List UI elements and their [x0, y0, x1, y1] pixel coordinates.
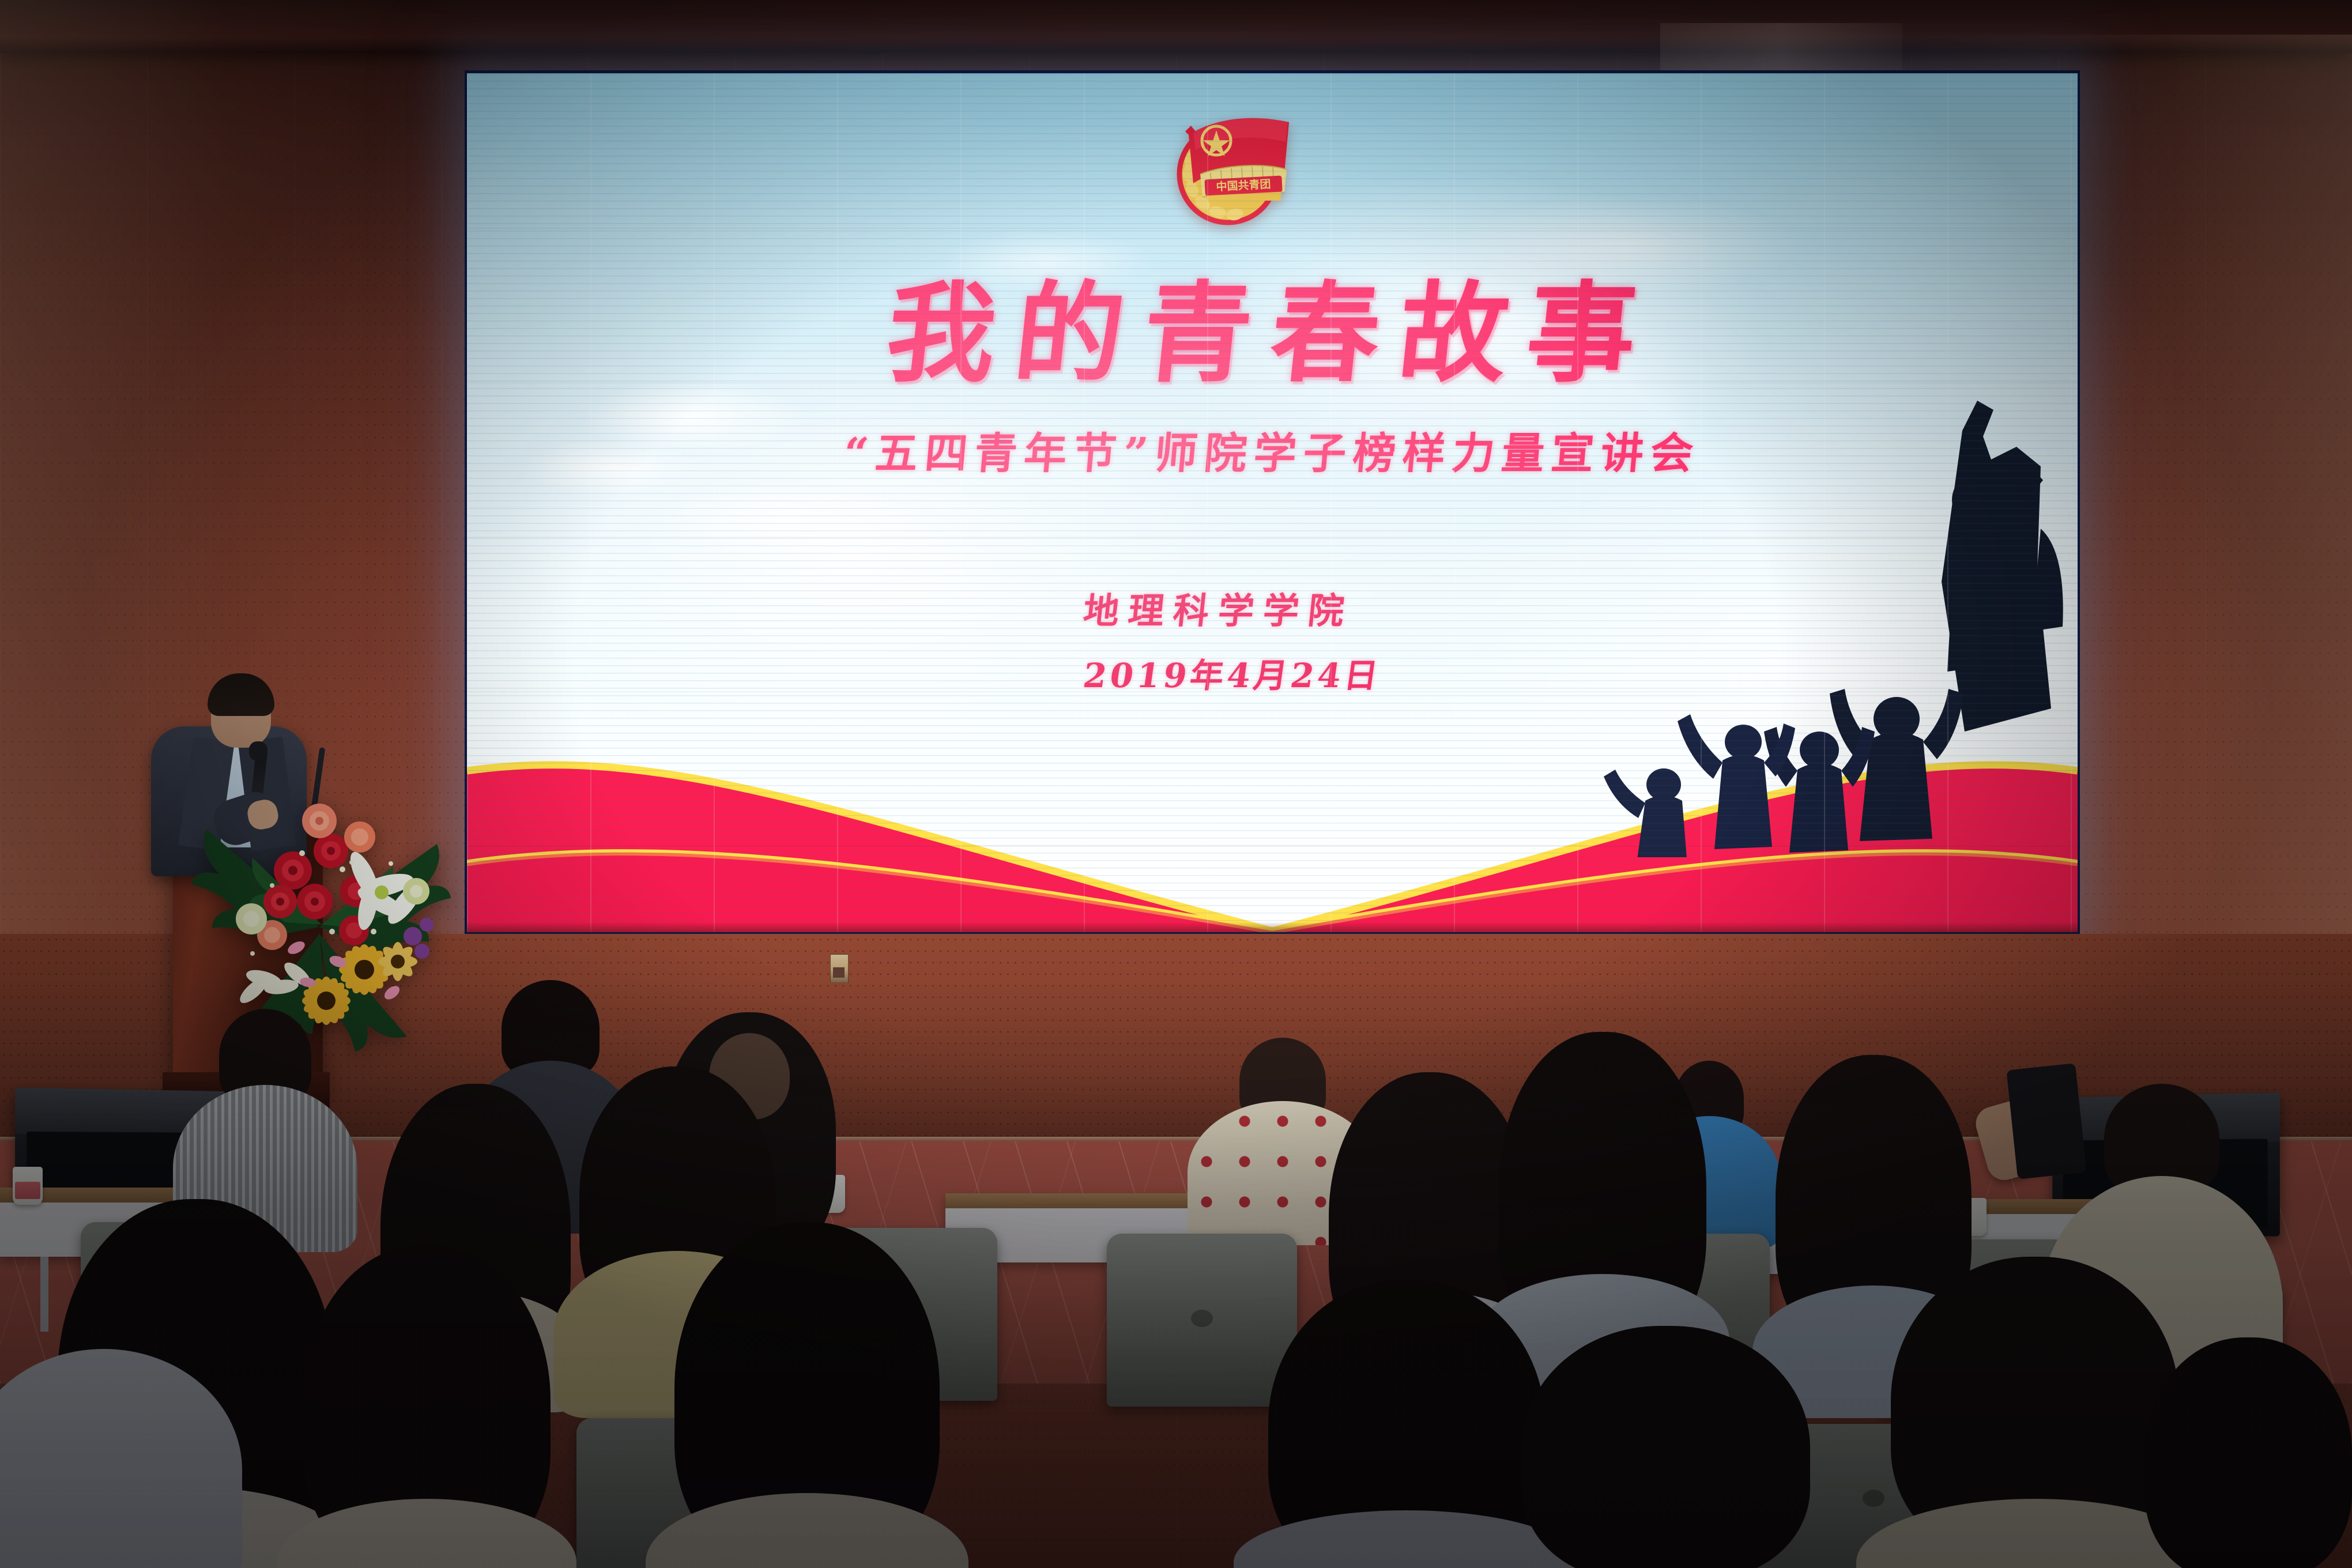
auditorium-scene: 中国共青团 — [0, 0, 2352, 1568]
screen-bottom-shadow — [467, 922, 2078, 932]
ceiling-beam — [0, 0, 2352, 53]
slide-organization: 地理科学学院 — [1081, 582, 1524, 634]
communist-youth-league-emblem: 中国共青团 — [1167, 105, 1299, 229]
led-screen-content: 中国共青团 — [467, 73, 2078, 932]
audience-member — [2121, 1337, 2352, 1568]
wall-socket-plate[interactable] — [830, 954, 849, 983]
slide-title: 我的青春故事 — [467, 246, 2078, 403]
microphone-head — [249, 741, 267, 761]
audience-member — [646, 1222, 968, 1568]
audience-member — [1487, 1326, 1845, 1568]
mobile-phone — [2006, 1063, 2086, 1179]
audience-member — [277, 1245, 576, 1568]
audience-member — [0, 1314, 242, 1568]
cheering-crowd-silhouette — [1559, 338, 2078, 857]
led-screen[interactable]: 中国共青团 — [465, 70, 2080, 935]
slide-subtitle: “五四青年节”师院学子榜样力量宣讲会 — [467, 419, 2078, 481]
slide-date: 2019年4月24日 — [1080, 649, 1525, 697]
